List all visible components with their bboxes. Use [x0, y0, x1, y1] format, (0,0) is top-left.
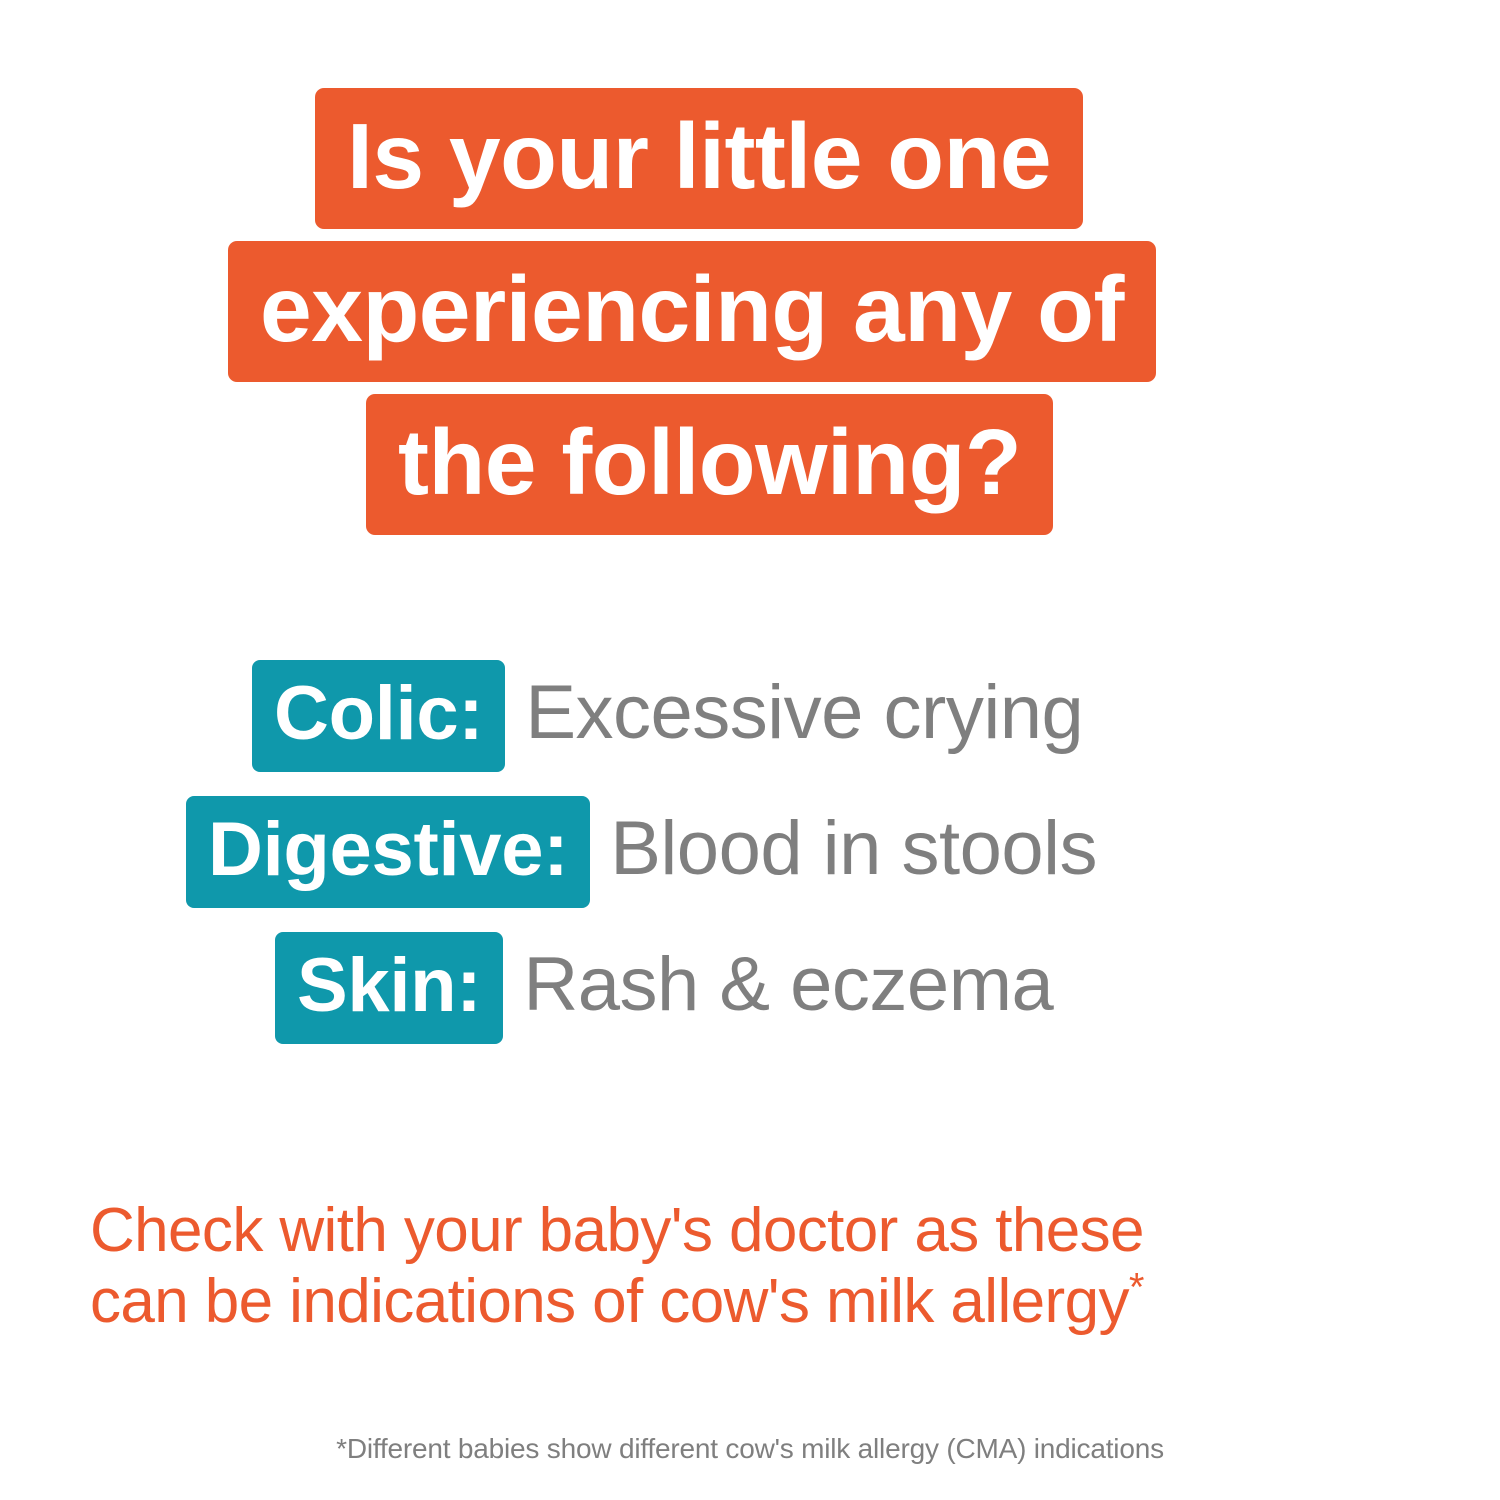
call-to-action-text: Check with your baby's doctor as these c… [90, 1196, 1420, 1337]
headline-line-2: experiencing any of [228, 241, 1156, 382]
symptom-description-colic: Excessive crying [525, 675, 1083, 757]
infographic-poster: Is your little one experiencing any of t… [0, 0, 1500, 1500]
cta-line-2: can be indications of cow's milk allergy [90, 1267, 1129, 1336]
symptom-row-colic: Colic: Excessive crying [0, 660, 1500, 772]
symptom-description-skin: Rash & eczema [523, 947, 1053, 1029]
cta-line-2-wrap: can be indications of cow's milk allergy… [90, 1267, 1420, 1338]
symptom-list: Colic: Excessive crying Digestive: Blood… [0, 660, 1500, 1068]
footnote-disclaimer: *Different babies show different cow's m… [0, 1432, 1500, 1466]
headline-row-3: the following? [0, 394, 1500, 535]
headline-line-1: Is your little one [315, 88, 1083, 229]
headline-row-2: experiencing any of [0, 241, 1500, 382]
symptom-badge-digestive: Digestive: [186, 796, 590, 908]
symptom-badge-colic: Colic: [252, 660, 505, 772]
headline-row-1: Is your little one [0, 88, 1500, 229]
symptom-description-digestive: Blood in stools [610, 811, 1097, 893]
cta-asterisk-marker: * [1129, 1265, 1144, 1309]
symptom-row-digestive: Digestive: Blood in stools [0, 796, 1500, 908]
cta-line-1: Check with your baby's doctor as these [90, 1196, 1420, 1267]
symptom-badge-skin: Skin: [275, 932, 503, 1044]
symptom-row-skin: Skin: Rash & eczema [0, 932, 1500, 1044]
headline-line-3: the following? [366, 394, 1053, 535]
footnote-text: *Different babies show different cow's m… [336, 1433, 1164, 1464]
headline-block: Is your little one experiencing any of t… [0, 88, 1500, 547]
